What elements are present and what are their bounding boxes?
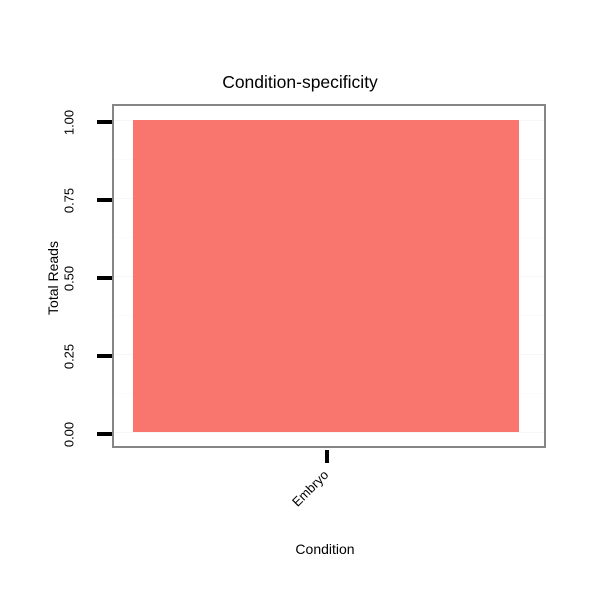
gridline-major-0.00 [114,432,544,433]
plot-panel [112,104,546,448]
x-tick-mark-embryo [325,450,329,463]
x-axis-title: Condition [245,542,405,556]
y-tick-mark-0.00 [97,432,112,436]
y-tick-label-0.25: 0.25 [63,332,76,382]
plot-panel-inner [114,106,544,446]
y-tick-label-1.00: 1.00 [63,98,76,148]
y-tick-mark-0.50 [97,276,112,280]
bar-embryo[interactable] [133,120,519,432]
chart-canvas: Condition-specificity Total Reads 1.00 0… [0,0,600,600]
chart-title: Condition-specificity [0,71,600,93]
y-tick-mark-0.75 [97,198,112,202]
y-tick-label-0.50: 0.50 [63,254,76,304]
y-tick-label-0.75: 0.75 [63,176,76,226]
y-tick-mark-1.00 [97,120,112,124]
y-tick-mark-0.25 [97,354,112,358]
y-tick-label-0.00: 0.00 [63,410,76,460]
x-tick-label-embryo: Embryo [251,468,331,548]
